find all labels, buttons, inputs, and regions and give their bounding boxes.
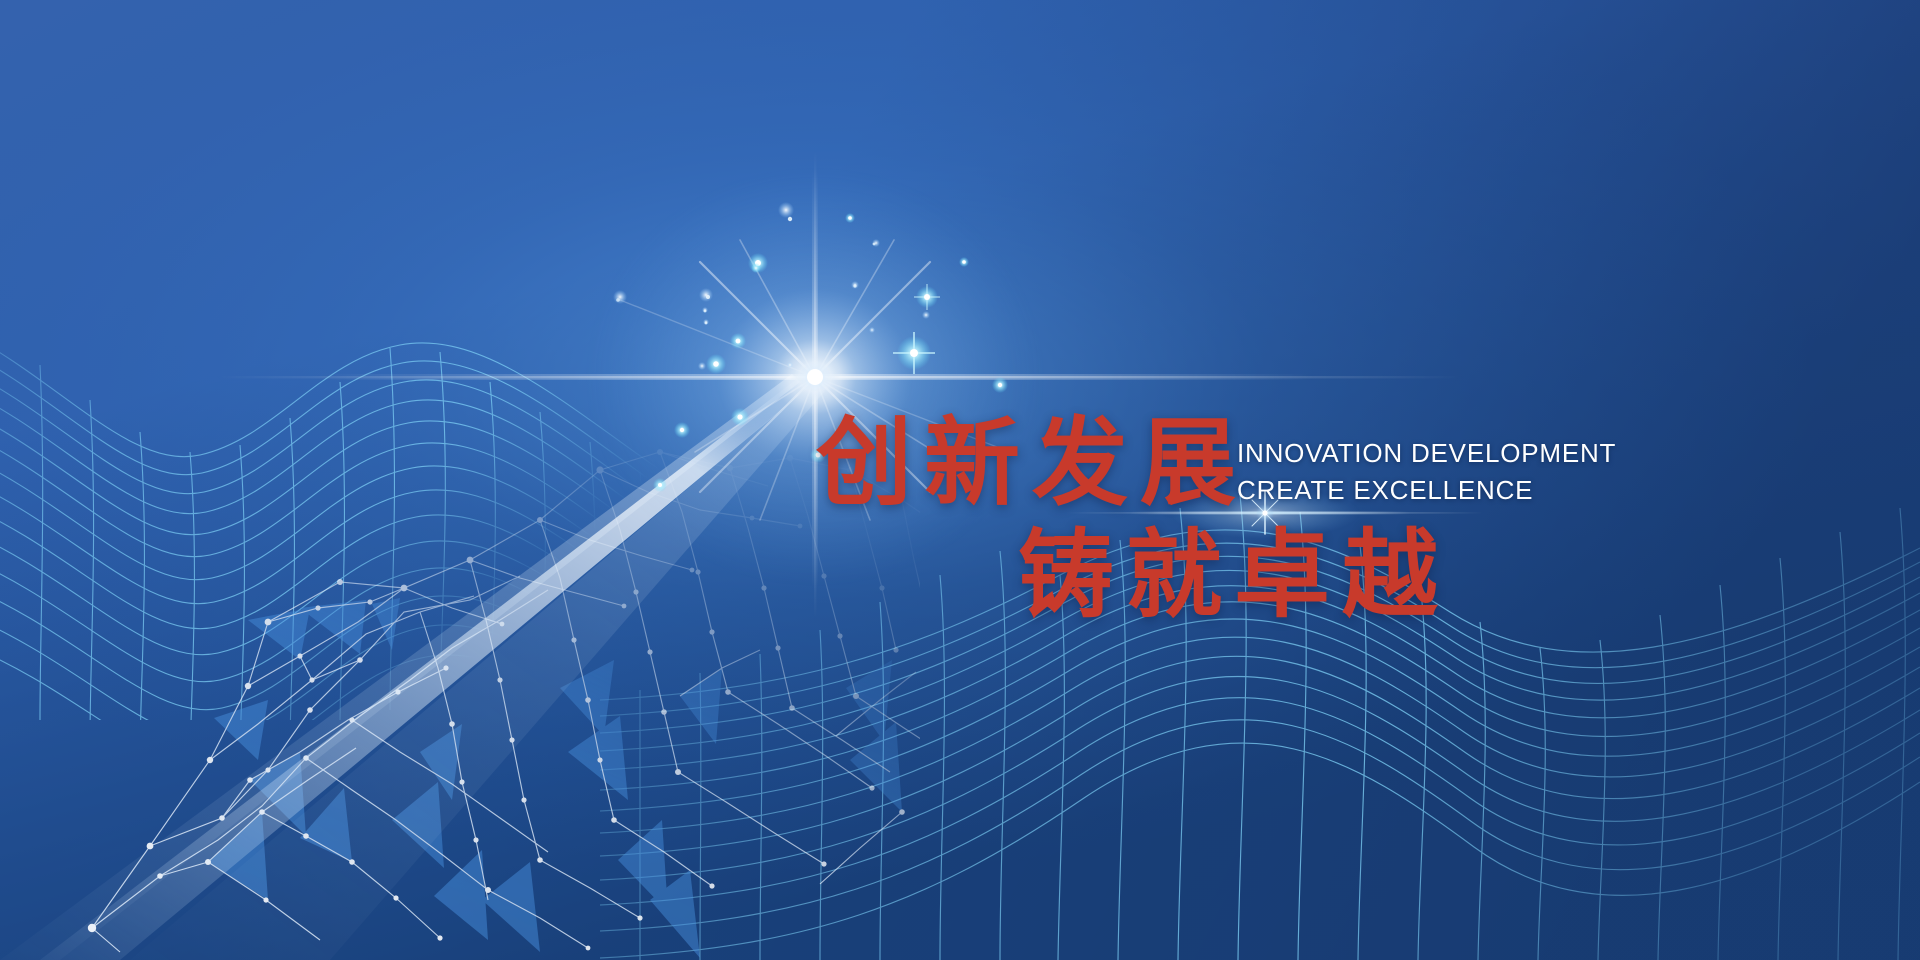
headline-chinese-line-2: 铸就卓越 xyxy=(1018,527,1450,623)
subhead-english-line-2: CREATE EXCELLENCE xyxy=(1237,477,1533,503)
light-beam xyxy=(0,0,1920,960)
polygon-network xyxy=(0,0,1920,960)
sparkle-particles xyxy=(0,0,1920,960)
right-wireframe-wave xyxy=(0,0,1920,960)
left-wireframe-wave xyxy=(0,0,1920,960)
banner-canvas: 创新发展 铸就卓越 INNOVATION DEVELOPMENT CREATE … xyxy=(0,0,1920,960)
small-starburst-icon xyxy=(0,0,1920,960)
starburst-icon xyxy=(0,0,1920,960)
headline-block: 创新发展 铸就卓越 INNOVATION DEVELOPMENT CREATE … xyxy=(0,0,1920,960)
background-gradient xyxy=(0,0,1920,960)
subhead-english-line-1: INNOVATION DEVELOPMENT xyxy=(1237,440,1616,466)
headline-chinese-line-1: 创新发展 xyxy=(816,415,1248,511)
